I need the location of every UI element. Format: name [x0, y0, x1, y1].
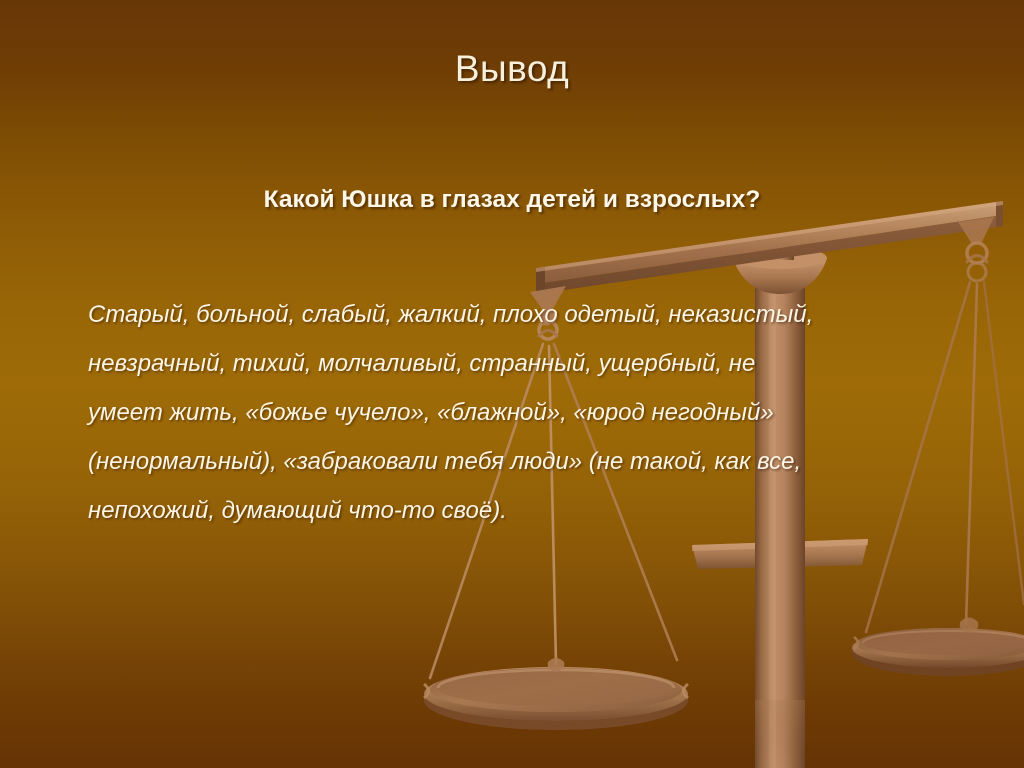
question-heading: Какой Юшка в глазах детей и взрослых? — [0, 186, 1024, 214]
slide-canvas: Вывод Какой Юшка в глазах детей и взросл… — [0, 0, 1024, 768]
answer-text-block: Старый, больной, слабый, жалкий, плохо о… — [88, 290, 988, 535]
answer-line: (ненормальный), «забраковали тебя люди» … — [88, 437, 988, 486]
page-title: Вывод — [0, 48, 1024, 90]
answer-line: непохожий, думающий что-то своё). — [88, 486, 988, 535]
answer-line: умеет жить, «божье чучело», «блажной», «… — [88, 388, 988, 437]
text-layer: Вывод Какой Юшка в глазах детей и взросл… — [0, 0, 1024, 768]
answer-line: невзрачный, тихий, молчаливый, странный,… — [88, 339, 988, 388]
answer-line: Старый, больной, слабый, жалкий, плохо о… — [88, 290, 988, 339]
